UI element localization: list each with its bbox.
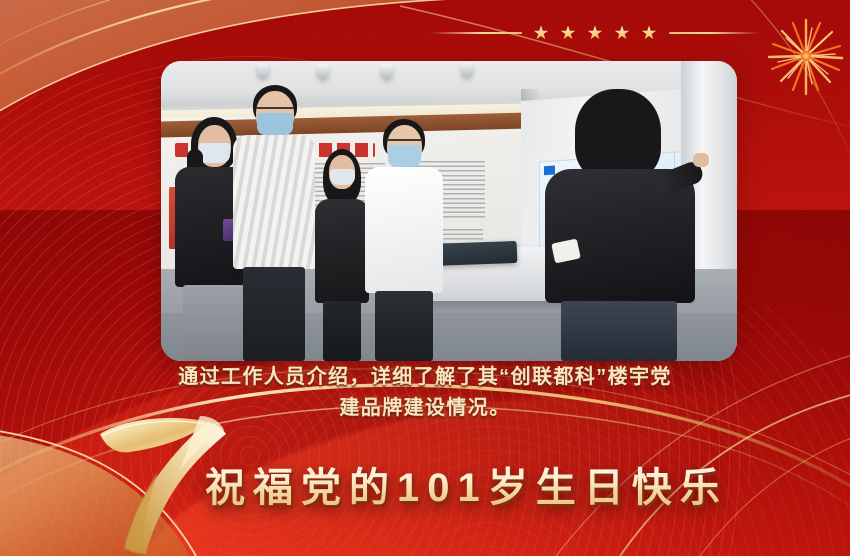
- photo-person-legs: [323, 301, 361, 361]
- photo-spotlight: [317, 64, 329, 79]
- poster-root: 通过工作人员介绍，详细了解了其“创联都科”楼宇党 建品牌建设情况。 祝福党的10…: [0, 0, 850, 556]
- photo-person-hair: [575, 89, 661, 181]
- photo-person-mask: [330, 169, 355, 185]
- photo-person-mask: [388, 145, 421, 167]
- photo-spotlight: [461, 62, 473, 77]
- photo-person-hand: [693, 153, 709, 167]
- photo-person: [311, 121, 371, 361]
- photo-person: [231, 93, 317, 361]
- photo-person-torso: [365, 167, 443, 293]
- photo-person-legs: [375, 291, 433, 361]
- photo-person-torso: [233, 135, 315, 269]
- photo-person: [365, 103, 445, 361]
- photo-person-torso: [315, 199, 369, 303]
- photo-person-legs: [243, 267, 305, 361]
- photo-spotlight: [381, 64, 393, 79]
- photo-person-mask: [199, 143, 230, 163]
- photo-person-mask: [257, 113, 293, 135]
- exhibition-hall-photo: [161, 61, 737, 361]
- photo-spotlight: [257, 63, 269, 78]
- photo-frame: [161, 61, 737, 361]
- photo-person-foreground: [539, 61, 699, 361]
- photo-person-legs: [561, 301, 677, 361]
